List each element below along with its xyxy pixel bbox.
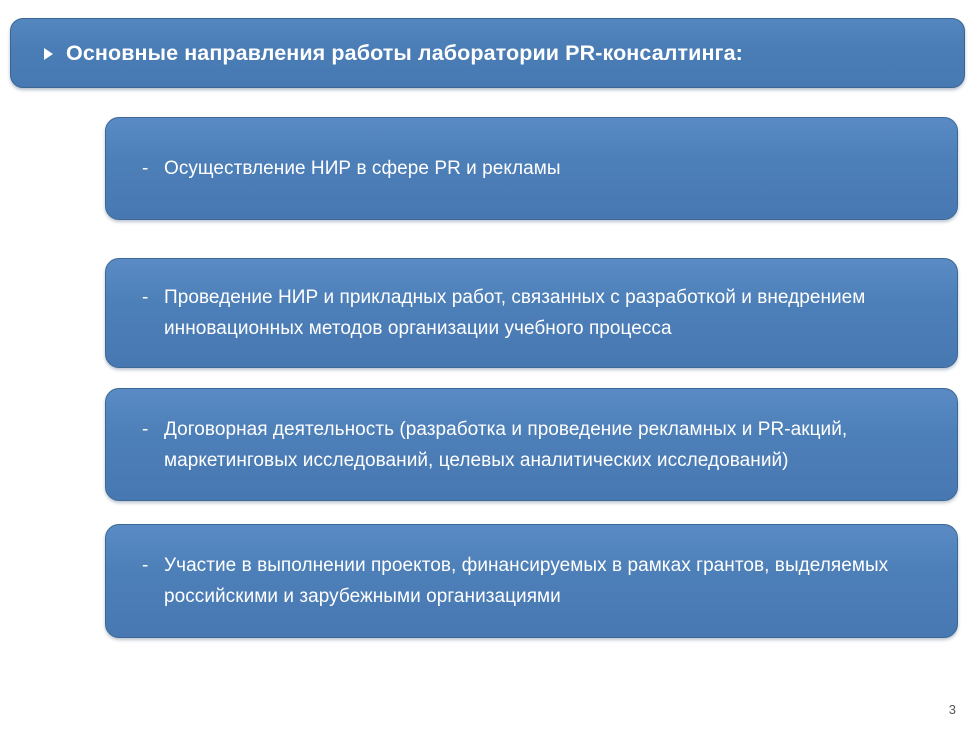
list-item-label: Договорная деятельность (разработка и пр… — [164, 414, 931, 476]
list-item-label: Участие в выполнении проектов, финансиру… — [164, 550, 931, 612]
page-number: 3 — [949, 702, 956, 717]
list-item-content: - Осуществление НИР в сфере PR и рекламы — [106, 153, 957, 184]
list-item-label: Проведение НИР и прикладных работ, связа… — [164, 282, 931, 344]
dash-bullet-icon: - — [142, 153, 164, 184]
list-item: - Проведение НИР и прикладных работ, свя… — [105, 258, 958, 368]
list-item: - Участие в выполнении проектов, финанси… — [105, 524, 958, 638]
list-item-content: - Участие в выполнении проектов, финанси… — [106, 550, 957, 612]
dash-bullet-icon: - — [142, 282, 164, 313]
triangle-bullet-icon — [44, 48, 53, 60]
slide-canvas: Основные направления работы лаборатории … — [0, 0, 980, 735]
list-item-content: - Проведение НИР и прикладных работ, свя… — [106, 282, 957, 344]
dash-bullet-icon: - — [142, 550, 164, 581]
list-item-content: - Договорная деятельность (разработка и … — [106, 414, 957, 476]
list-item-label: Осуществление НИР в сфере PR и рекламы — [164, 153, 561, 184]
slide-title-banner: Основные направления работы лаборатории … — [10, 18, 965, 88]
page-title: Основные направления работы лаборатории … — [66, 41, 743, 66]
list-item: - Договорная деятельность (разработка и … — [105, 388, 958, 501]
list-item: - Осуществление НИР в сфере PR и рекламы — [105, 117, 958, 220]
dash-bullet-icon: - — [142, 414, 164, 445]
